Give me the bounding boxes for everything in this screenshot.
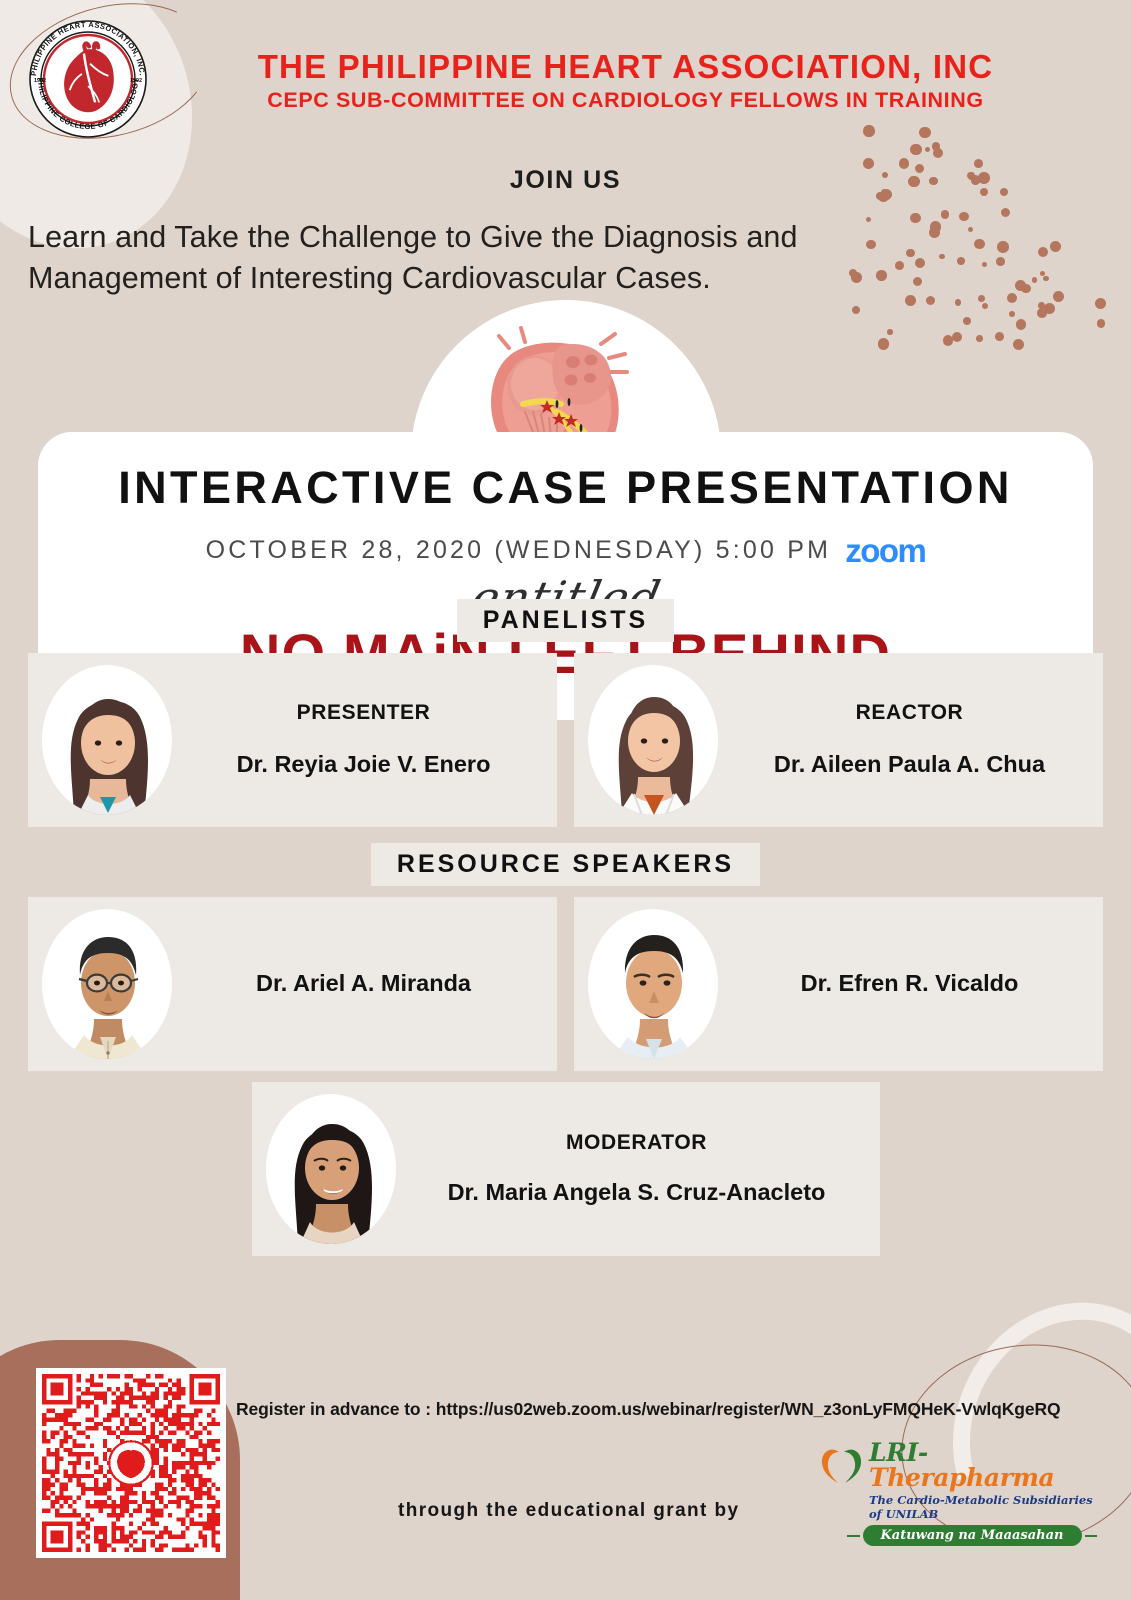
- dot: [995, 332, 1004, 341]
- dot: [957, 257, 965, 265]
- dot: [1053, 291, 1064, 302]
- sponsor-subtitle: The Cardio-Metabolic Subsidiaries of UNI…: [869, 1493, 1097, 1521]
- person-name: Dr. Aileen Paula A. Chua: [724, 751, 1089, 778]
- tagline-rule-right: [1085, 1535, 1098, 1537]
- svg-text:1952: 1952: [34, 78, 46, 84]
- person-role: REACTOR: [724, 701, 1089, 725]
- dot: [963, 317, 971, 325]
- dot: [1050, 241, 1061, 252]
- tagline-rule-left: [847, 1535, 860, 1537]
- dot: [887, 329, 892, 334]
- avatar-female-smiling-icon: [268, 1096, 394, 1244]
- dot: [978, 295, 985, 302]
- person-card-moderator: MODERATOR Dr. Maria Angela S. Cruz-Anacl…: [252, 1082, 880, 1256]
- dot: [974, 239, 984, 249]
- panelists-row: PRESENTER Dr. Reyia Joie V. Enero REACTO…: [0, 653, 1131, 827]
- join-us-label: JOIN US: [0, 166, 1131, 195]
- dot: [943, 335, 954, 346]
- organization-subtitle: CEPC SUB-COMMITTEE ON CARDIOLOGY FELLOWS…: [140, 88, 1111, 113]
- dot: [1032, 277, 1038, 283]
- event-title: INTERACTIVE CASE PRESENTATION: [118, 462, 1013, 514]
- person-text: PRESENTER Dr. Reyia Joie V. Enero: [178, 701, 543, 778]
- dot: [982, 303, 988, 309]
- dot: [910, 144, 921, 155]
- dot: [955, 299, 961, 305]
- dot: [915, 258, 925, 268]
- intro-lede-text: Learn and Take the Challenge to Give the…: [28, 217, 908, 299]
- avatar-female-white-coat-icon: [590, 667, 716, 815]
- dot: [1009, 311, 1015, 317]
- sponsor-tagline: Katuwang na Maaasahan: [863, 1525, 1082, 1546]
- person-text: REACTOR Dr. Aileen Paula A. Chua: [724, 701, 1089, 778]
- sponsor-name: LRI-Therapharma: [869, 1440, 1097, 1490]
- section-badge-resource-speakers: RESOURCE SPEAKERS: [371, 843, 760, 886]
- sponsor-tagline-row: Katuwang na Maaasahan: [847, 1525, 1097, 1546]
- dot: [959, 212, 968, 221]
- section-badge-panelists: PANELISTS: [457, 599, 674, 642]
- educational-grant-text: through the educational grant by: [398, 1500, 739, 1522]
- dot: [982, 262, 987, 267]
- dot: [1038, 247, 1048, 257]
- event-datetime-row: OCTOBER 28, 2020 (WEDNESDAY) 5:00 PM zoo…: [206, 534, 926, 567]
- moderator-row: MODERATOR Dr. Maria Angela S. Cruz-Anacl…: [0, 1082, 1131, 1256]
- person-role: PRESENTER: [178, 701, 543, 725]
- avatar-male-glasses-barong-icon: [44, 911, 170, 1059]
- dot: [932, 142, 941, 151]
- avatar: [266, 1094, 396, 1244]
- person-name: Dr. Efren R. Vicaldo: [724, 970, 1089, 997]
- avatar: [588, 665, 718, 815]
- person-name: Dr. Maria Angela S. Cruz-Anacleto: [402, 1179, 866, 1206]
- person-card-reactor: REACTOR Dr. Aileen Paula A. Chua: [574, 653, 1103, 827]
- sponsor-name-row: LRI-Therapharma: [817, 1440, 1097, 1490]
- resource-speakers-row: Dr. Ariel A. Miranda Dr. Efren R. Vicald…: [0, 897, 1131, 1071]
- dot: [1043, 276, 1048, 281]
- dot: [1001, 208, 1010, 217]
- dot: [925, 147, 930, 152]
- sponsor-name-suffix: Therapharma: [869, 1463, 1054, 1492]
- person-card-speaker-2: Dr. Efren R. Vicaldo: [574, 897, 1103, 1071]
- dot: [1013, 339, 1025, 351]
- person-text: Dr. Ariel A. Miranda: [178, 970, 543, 997]
- dot: [939, 254, 945, 260]
- sponsor-logo: LRI-Therapharma The Cardio-Metabolic Sub…: [817, 1440, 1097, 1546]
- avatar: [588, 909, 718, 1059]
- dot: [1007, 293, 1017, 303]
- avatar-male-light-shirt-icon: [590, 911, 716, 1059]
- dot: [1095, 298, 1107, 310]
- person-card-presenter: PRESENTER Dr. Reyia Joie V. Enero: [28, 653, 557, 827]
- dot: [929, 227, 940, 238]
- avatar: [42, 909, 172, 1059]
- dot: [941, 210, 950, 219]
- poster-header: PHILIPPINE HEART ASSOCIATION, INC. PHILI…: [0, 0, 1131, 140]
- organization-title: THE PHILIPPINE HEART ASSOCIATION, INC: [140, 50, 1111, 85]
- person-text: MODERATOR Dr. Maria Angela S. Cruz-Anacl…: [402, 1131, 866, 1206]
- person-text: Dr. Efren R. Vicaldo: [724, 970, 1089, 997]
- pha-seal-icon: PHILIPPINE HEART ASSOCIATION, INC. PHILI…: [18, 18, 158, 140]
- sponsor-heart-mark-icon: [817, 1444, 865, 1486]
- dot: [996, 257, 1005, 266]
- dot: [976, 335, 983, 342]
- registration-link-text[interactable]: Register in advance to : https://us02web…: [236, 1399, 1061, 1420]
- dot: [926, 296, 935, 305]
- avatar-female-long-dark-hair-icon: [44, 667, 170, 815]
- header-title-block: THE PHILIPPINE HEART ASSOCIATION, INC CE…: [140, 50, 1111, 113]
- qr-code[interactable]: [36, 1368, 226, 1558]
- dot: [910, 213, 920, 223]
- person-card-speaker-1: Dr. Ariel A. Miranda: [28, 897, 557, 1071]
- dot: [968, 227, 974, 233]
- dot: [913, 277, 922, 286]
- dot: [952, 332, 962, 342]
- zoom-logo: zoom: [845, 534, 925, 567]
- person-role: MODERATOR: [402, 1131, 866, 1155]
- event-datetime: OCTOBER 28, 2020 (WEDNESDAY) 5:00 PM: [206, 536, 832, 565]
- dot: [1044, 303, 1055, 314]
- dot: [1021, 284, 1031, 294]
- qr-code-icon: [42, 1374, 220, 1552]
- dot: [1097, 319, 1106, 328]
- dot: [997, 241, 1009, 253]
- person-name: Dr. Reyia Joie V. Enero: [178, 751, 543, 778]
- dot: [852, 306, 860, 314]
- dot: [1016, 319, 1027, 330]
- pha-logo: PHILIPPINE HEART ASSOCIATION, INC. PHILI…: [18, 18, 158, 140]
- person-name: Dr. Ariel A. Miranda: [178, 970, 543, 997]
- avatar: [42, 665, 172, 815]
- dot: [878, 338, 890, 350]
